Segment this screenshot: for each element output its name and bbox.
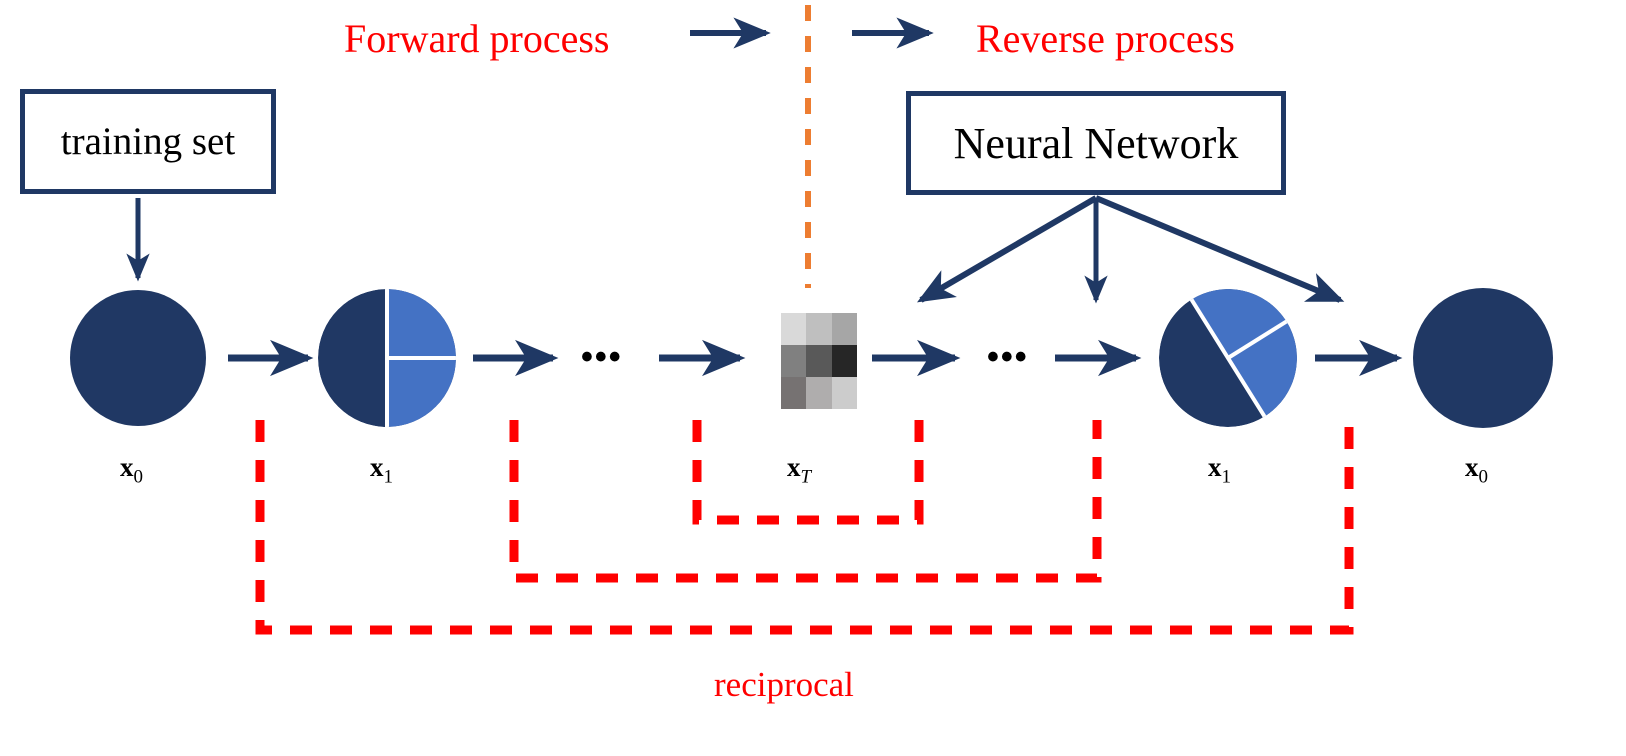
- training-set-label: training set: [61, 119, 235, 164]
- noise-cell-r2-c2: [832, 377, 857, 409]
- node-x0-right-circle: [1413, 288, 1553, 428]
- node-label-sub: T: [801, 466, 812, 487]
- node-label-base: x: [120, 452, 134, 482]
- node-x1-left-pie: [318, 286, 460, 430]
- neural-network-box[interactable]: Neural Network: [906, 91, 1286, 195]
- noise-cell-r1-c2: [832, 345, 857, 377]
- node-label-sub: 1: [384, 466, 394, 487]
- noise-cell-r0-c2: [832, 313, 857, 345]
- noise-cell-r0-c0: [781, 313, 806, 345]
- node-label-base: x: [1208, 452, 1222, 482]
- reciprocal-label: reciprocal: [714, 667, 854, 702]
- training-set-box[interactable]: training set: [20, 89, 276, 194]
- forward-process-label: Forward process: [344, 19, 610, 59]
- middle-bracket: [514, 420, 1097, 578]
- node-label-base: x: [370, 452, 384, 482]
- node-label-x1-left: x1: [370, 452, 393, 488]
- noise-cell-r0-c1: [806, 313, 831, 345]
- node-label-base: x: [1465, 452, 1479, 482]
- node-label-sub: 0: [1479, 466, 1489, 487]
- ellipsis-reverse: •••: [987, 340, 1029, 374]
- node-x0-left-circle: [70, 290, 206, 426]
- noise-cell-r2-c0: [781, 377, 806, 409]
- noise-cell-r1-c1: [806, 345, 831, 377]
- node-label-x0-left: x0: [120, 452, 143, 488]
- diagram-canvas: Forward process Reverse process training…: [0, 0, 1626, 756]
- node-label-x1-right: x1: [1208, 452, 1231, 488]
- node-label-x0-right: x0: [1465, 452, 1488, 488]
- node-xT-noise-grid: [781, 313, 857, 409]
- noise-cell-r1-c0: [781, 345, 806, 377]
- node-label-base: x: [787, 452, 801, 482]
- nn-arrow-left: [921, 198, 1096, 300]
- node-label-sub: 0: [134, 466, 144, 487]
- ellipsis-forward: •••: [581, 340, 623, 374]
- noise-cell-r2-c1: [806, 377, 831, 409]
- node-label-sub: 1: [1222, 466, 1232, 487]
- nn-arrow-right: [1096, 198, 1340, 300]
- neural-network-label: Neural Network: [954, 118, 1239, 169]
- node-label-xT: xT: [787, 452, 811, 488]
- node-x1-right-pie: [1131, 258, 1328, 455]
- reverse-process-label: Reverse process: [976, 19, 1235, 59]
